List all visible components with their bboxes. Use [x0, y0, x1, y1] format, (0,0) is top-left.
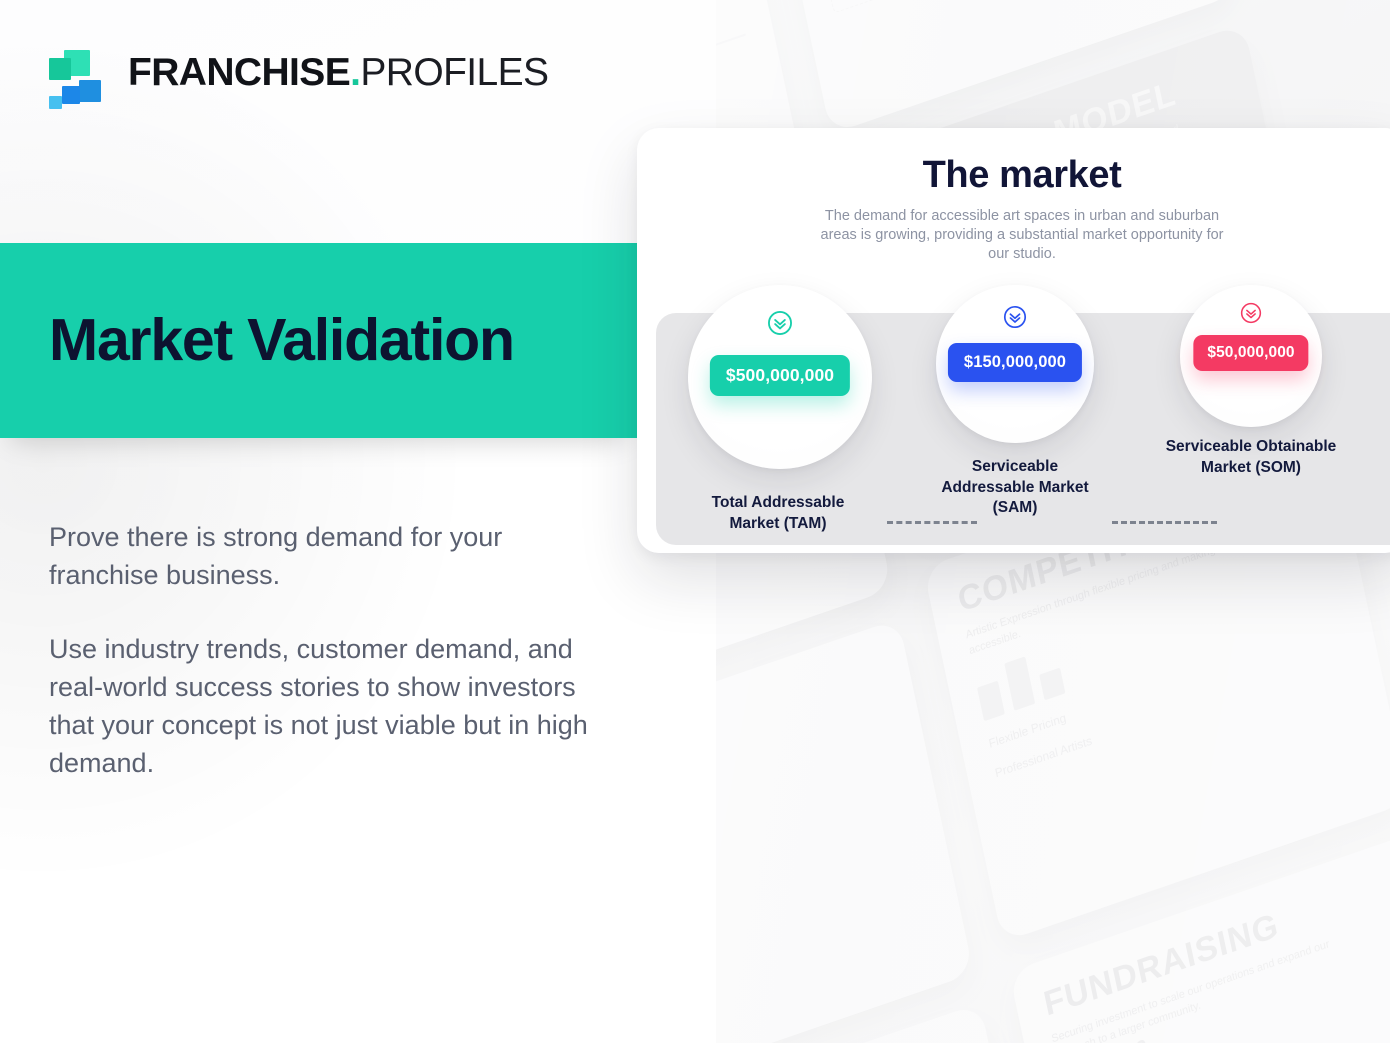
paragraph-2: Use industry trends, customer demand, an… [49, 630, 594, 782]
funnel-nodes: $500,000,000 Total Addressable Market (T… [637, 285, 1390, 553]
node-label-tam: Total Addressable Market (TAM) [688, 493, 868, 534]
node-bubble: $500,000,000 [688, 285, 872, 469]
brand-name-bold: FRANCHISE [128, 51, 350, 94]
connector-sam-som [1112, 521, 1217, 524]
node-label-som: Serviceable Obtainable Market (SOM) [1161, 437, 1341, 478]
funnel-node-som[interactable]: $50,000,000 Serviceable Obtainable Marke… [1161, 285, 1341, 478]
brand-wordmark: FRANCHISE.PROFILES [128, 53, 548, 92]
squares-logo-icon [49, 44, 109, 100]
market-card: The market The demand for accessible art… [637, 128, 1390, 553]
paragraph-1: Prove there is strong demand for your fr… [49, 518, 594, 594]
chevron-double-down-circle-icon [1003, 305, 1027, 329]
bg-slide: 1,000 Monthly Visitors 75 Workshops Held… [716, 619, 974, 1043]
brand-name-thin: PROFILES [360, 51, 548, 94]
funnel-node-tam[interactable]: $500,000,000 Total Addressable Market (T… [688, 285, 868, 534]
node-value-tam: $500,000,000 [710, 355, 850, 396]
node-label-sam: Serviceable Addressable Market (SAM) [925, 457, 1105, 519]
slide-canvas: Drop-In Fees Session Workshops Drop-In F… [0, 0, 1390, 1043]
node-bubble: $150,000,000 [936, 285, 1094, 443]
connector-tam-sam [887, 521, 977, 524]
card-subtitle: The demand for accessible art spaces in … [812, 207, 1232, 264]
body-copy: Prove there is strong demand for your fr… [49, 518, 594, 782]
node-value-sam: $150,000,000 [948, 343, 1082, 382]
left-panel: FRANCHISE.PROFILES Market Validation Pro… [0, 0, 716, 1043]
heading-band: Market Validation [0, 243, 637, 438]
chevron-double-down-circle-icon [767, 310, 793, 336]
node-bubble: $50,000,000 [1180, 285, 1322, 427]
node-value-som: $50,000,000 [1193, 335, 1308, 371]
card-title: The market [637, 154, 1390, 197]
funnel-node-sam[interactable]: $150,000,000 Serviceable Addressable Mar… [925, 285, 1105, 519]
brand-name-dot: . [350, 51, 360, 94]
page-title: Market Validation [49, 309, 514, 372]
bg-fragment: Drop-In Fees [716, 0, 724, 65]
brand-logo: FRANCHISE.PROFILES [49, 44, 548, 100]
chevron-double-down-circle-icon [1240, 302, 1262, 324]
